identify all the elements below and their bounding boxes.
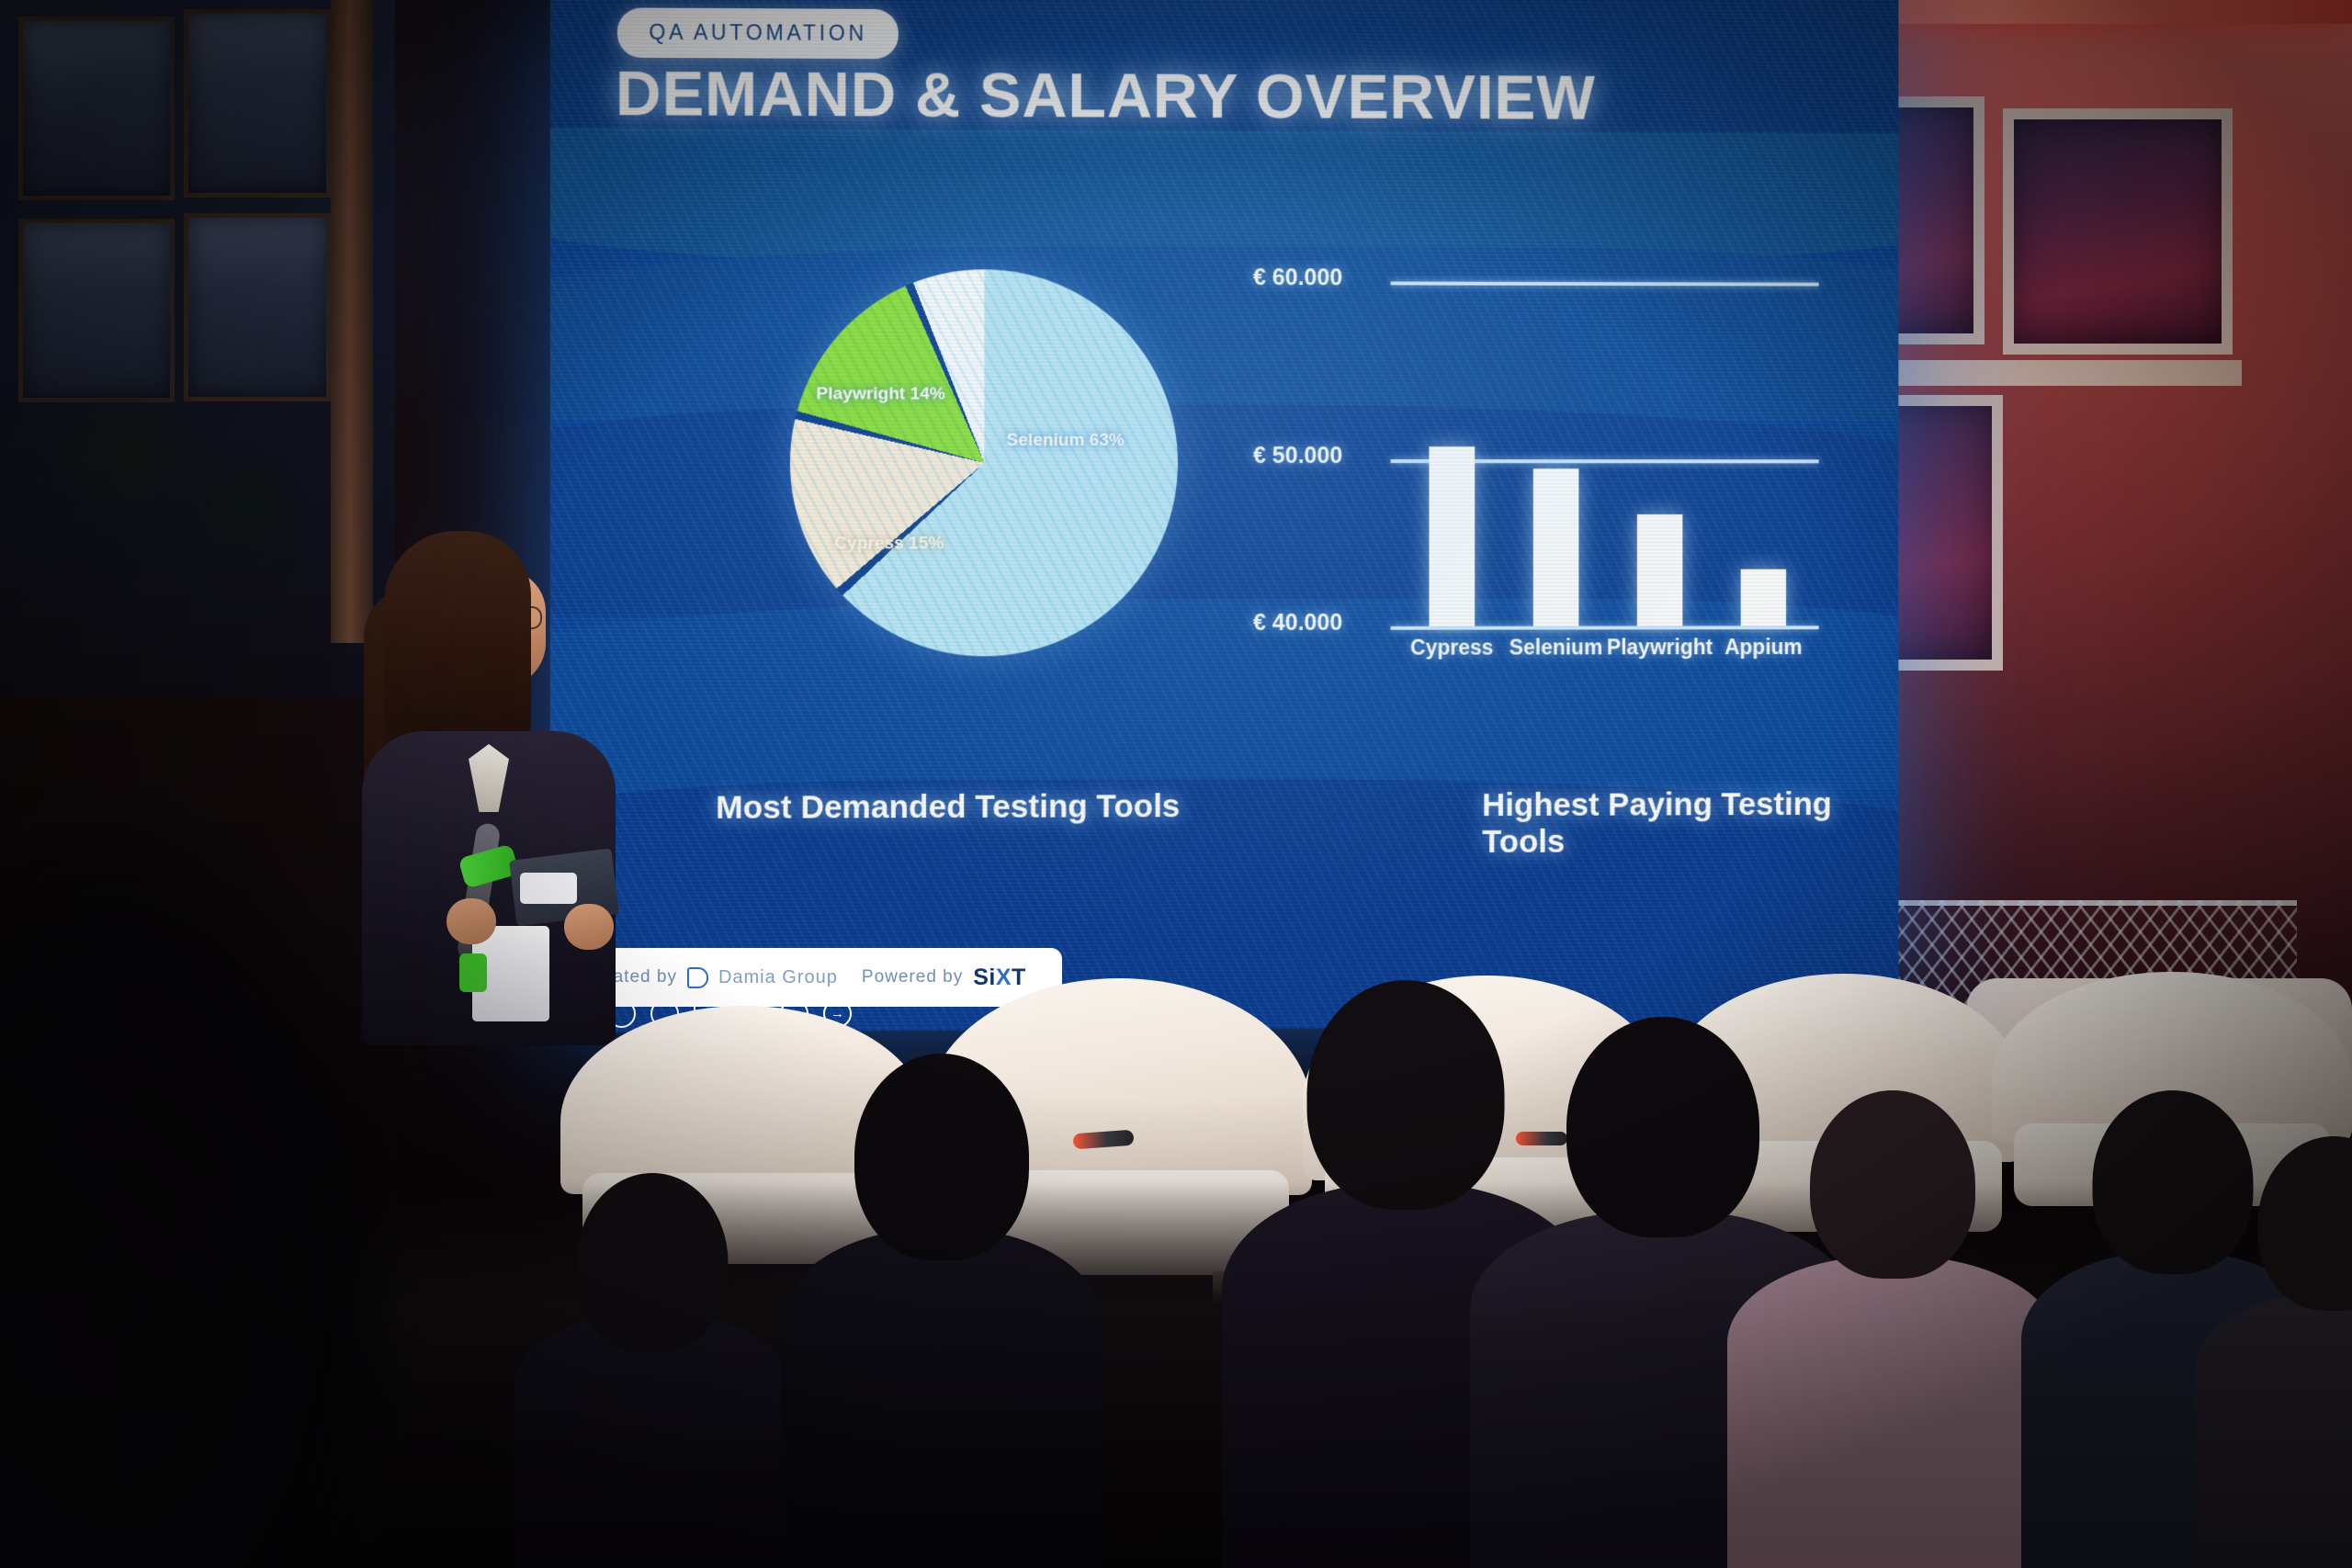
gridline-60000 xyxy=(1391,281,1819,286)
pie-chart-most-demanded-tools: Selenium 63% Cypress 15% Playwright 14% xyxy=(790,269,1178,657)
y-axis-tick-40000: € 40.000 xyxy=(1253,610,1384,637)
audience-body xyxy=(2196,1292,2352,1568)
bar-selenium xyxy=(1533,468,1579,626)
window-pane xyxy=(18,17,175,200)
pie-slice-label-playwright: Playwright 14% xyxy=(810,383,951,406)
window-pane xyxy=(184,9,331,197)
bar-appium xyxy=(1741,570,1786,626)
slide-category-badge: QA AUTOMATION xyxy=(617,7,899,59)
pie-slice-label-selenium: Selenium 63% xyxy=(1001,430,1129,452)
presentation-screen: QA AUTOMATION DEMAND & SALARY OVERVIEW S… xyxy=(550,0,1899,1032)
pie-slice-label-cypress: Cypress 15% xyxy=(829,533,949,555)
bar-chart-highest-paying-tools: € 60.000 € 50.000 € 40.000 Cypress Selen… xyxy=(1253,268,1819,654)
y-axis-tick-60000: € 60.000 xyxy=(1253,265,1384,291)
y-axis-tick-50000: € 50.000 xyxy=(1253,443,1384,469)
audience-head xyxy=(1810,1090,1975,1279)
chart-caption-left: Most Demanded Testing Tools xyxy=(716,788,1180,827)
damia-brand-name: Damia Group xyxy=(718,967,838,988)
audience-head xyxy=(577,1173,729,1352)
audience-body xyxy=(781,1228,1102,1568)
bar-playwright xyxy=(1637,514,1683,626)
damia-logo-icon xyxy=(687,967,708,988)
chart-caption-right: Highest Paying Testing Tools xyxy=(1482,786,1898,861)
slide-title: DEMAND & SALARY OVERVIEW xyxy=(616,58,1596,134)
venue-window xyxy=(2003,108,2233,355)
right-hand xyxy=(564,904,614,950)
x-axis-label-appium: Appium xyxy=(1695,635,1831,660)
audience-member xyxy=(2196,1136,2352,1568)
audience-member xyxy=(781,1054,1102,1568)
notes-label xyxy=(520,873,577,904)
audience-member xyxy=(514,1173,790,1568)
audience-member xyxy=(1727,1090,2058,1568)
gridline-40000 xyxy=(1391,626,1819,630)
foreground-shadow-mass xyxy=(0,466,459,1568)
pie-chart-hatch-texture xyxy=(790,269,1178,657)
audience-head xyxy=(2258,1136,2352,1311)
bar-cypress xyxy=(1429,446,1475,626)
conference-photo-scene: QA AUTOMATION DEMAND & SALARY OVERVIEW S… xyxy=(0,0,2352,1568)
microphone-base xyxy=(459,953,487,992)
audience-body xyxy=(1727,1256,2058,1568)
audience-head xyxy=(854,1054,1029,1260)
